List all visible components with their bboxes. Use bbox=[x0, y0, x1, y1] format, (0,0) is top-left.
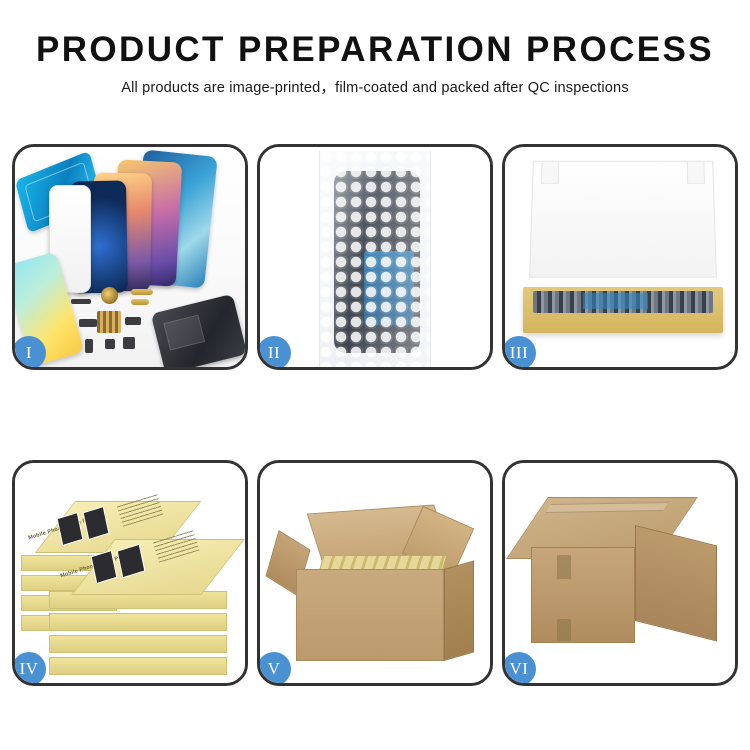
camera-module-icon bbox=[105, 339, 115, 349]
process-step-grid: I II III bbox=[12, 144, 738, 686]
photo-bubble-wrapped-screen: II bbox=[260, 147, 490, 367]
photo-phone-screens-and-spare-parts: I bbox=[15, 147, 245, 367]
process-step-panel-4[interactable]: Mobile Phone Spare Parts Mobile Phone Sp… bbox=[12, 460, 248, 686]
photo-open-mailer-box: III bbox=[505, 147, 735, 367]
bubble-wrap-bag-icon bbox=[319, 151, 431, 367]
carton-side-panel-icon bbox=[444, 560, 474, 661]
flex-cable-icon bbox=[131, 299, 149, 305]
photo-stacked-retail-boxes: Mobile Phone Spare Parts Mobile Phone Sp… bbox=[15, 463, 245, 683]
phone-mainboard-icon bbox=[151, 294, 245, 367]
step-badge-2: II bbox=[260, 336, 291, 367]
step-badge-3: III bbox=[505, 336, 536, 367]
packed-screens-icon bbox=[533, 291, 713, 313]
retail-box-edge bbox=[49, 657, 227, 675]
carton-seam-icon bbox=[557, 555, 571, 579]
process-step-panel-6[interactable]: VI bbox=[502, 460, 738, 686]
process-step-panel-5[interactable]: V bbox=[257, 460, 493, 686]
step-badge-4: IV bbox=[15, 652, 46, 683]
vibration-motor-icon bbox=[101, 287, 118, 304]
battery-connector-icon bbox=[123, 337, 135, 349]
photo-sealed-shipping-carton: VI bbox=[505, 463, 735, 683]
process-step-panel-2[interactable]: II bbox=[257, 144, 493, 370]
retail-box-edge bbox=[49, 613, 227, 631]
carton-right-panel-icon bbox=[635, 525, 717, 641]
plastic-sheen-icon bbox=[320, 151, 430, 367]
step-badge-6: VI bbox=[505, 652, 536, 683]
photo-open-shipping-carton: V bbox=[260, 463, 490, 683]
carton-seam-icon bbox=[557, 619, 571, 641]
page-title: PRODUCT PREPARATION PROCESS bbox=[0, 28, 750, 72]
step-badge-1: I bbox=[15, 336, 46, 367]
process-step-panel-3[interactable]: III bbox=[502, 144, 738, 370]
connector-icon bbox=[125, 317, 141, 325]
connector-icon bbox=[79, 319, 97, 327]
sim-tray-icon bbox=[85, 339, 93, 353]
page-subtitle: All products are image-printed，film-coat… bbox=[0, 78, 750, 98]
step-badge-5: V bbox=[260, 652, 291, 683]
process-step-panel-1[interactable]: I bbox=[12, 144, 248, 370]
earpiece-mesh-icon bbox=[71, 299, 91, 304]
retail-box-edge bbox=[49, 635, 227, 653]
flex-cable-icon bbox=[131, 289, 153, 295]
product-preparation-infographic: PRODUCT PREPARATION PROCESS All products… bbox=[0, 0, 750, 750]
mailer-box-tray-icon bbox=[523, 287, 723, 333]
carton-front-panel-icon bbox=[531, 547, 635, 643]
header: PRODUCT PREPARATION PROCESS All products… bbox=[0, 28, 750, 98]
mailer-box-lid-icon bbox=[529, 161, 717, 278]
speaker-grid-icon bbox=[97, 311, 121, 333]
carton-front-panel-icon bbox=[296, 569, 444, 661]
